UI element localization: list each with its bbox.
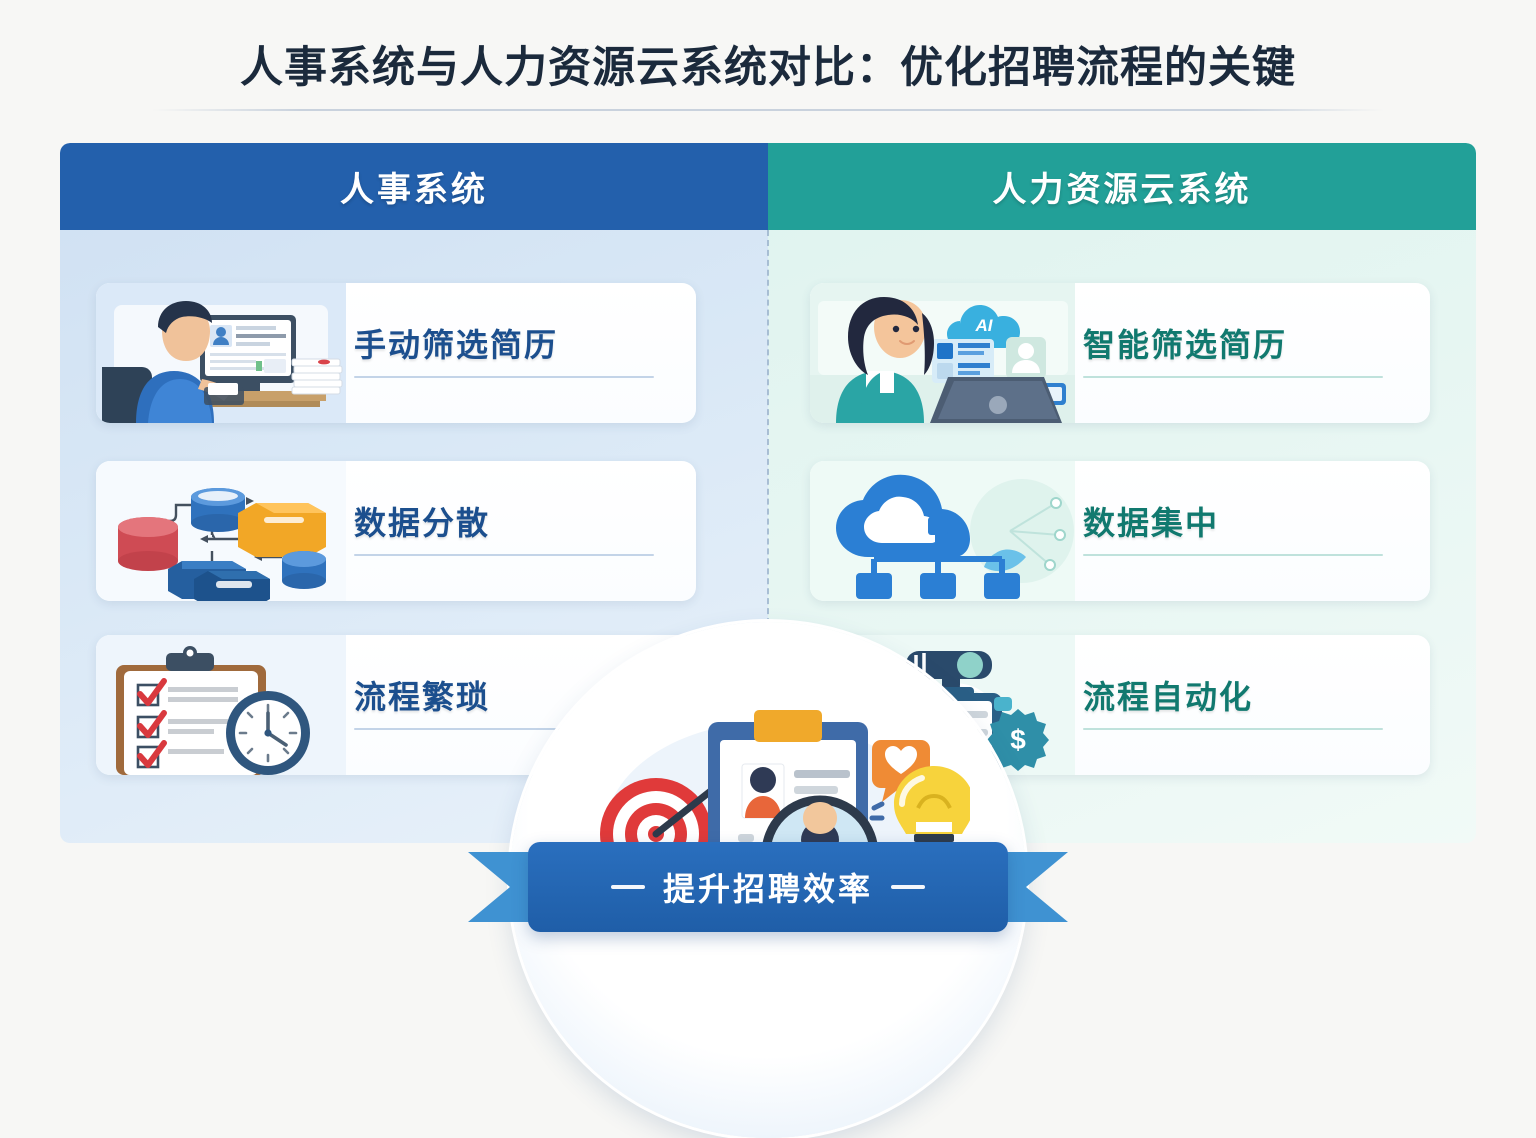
right-row-1-underline: [1083, 376, 1383, 378]
ribbon-dash-right: [891, 885, 925, 889]
right-row-1-label: 智能筛选简历: [1083, 328, 1412, 363]
right-row-1-labelbox: 智能筛选简历: [1075, 328, 1430, 378]
right-row-3-label: 流程自动化: [1083, 680, 1412, 715]
center-medallion: 提升招聘效率: [468, 622, 1068, 982]
ribbon-dash-left: [611, 885, 645, 889]
right-row-3-underline: [1083, 728, 1383, 730]
title-block: 人事系统与人力资源云系统对比：优化招聘流程的关键: [0, 44, 1536, 111]
ribbon-text-group: 提升招聘效率: [611, 864, 925, 910]
left-row-2-label: 数据分散: [354, 506, 678, 541]
woman-laptop-ai-cloud-icon: AI: [810, 283, 1075, 423]
ribbon-text: 提升招聘效率: [663, 864, 873, 910]
panel-right-header: 人力资源云系统: [768, 143, 1476, 230]
left-row-1-label: 手动筛选简历: [354, 328, 678, 363]
left-row-1-underline: [354, 376, 654, 378]
panel-right-header-text: 人力资源云系统: [993, 162, 1252, 211]
right-row-2-label: 数据集中: [1083, 506, 1412, 541]
left-row-1: 手动筛选简历: [96, 283, 696, 423]
left-row-2: 数据分散: [96, 461, 696, 601]
panel-left-header: 人事系统: [60, 143, 768, 230]
ribbon-main: 提升招聘效率: [528, 842, 1008, 932]
left-row-2-underline: [354, 554, 654, 556]
cloud-network-icon: [810, 461, 1075, 601]
panel-left-header-text: 人事系统: [340, 162, 488, 211]
person-at-desk-icon: [96, 283, 346, 423]
ribbon-banner: 提升招聘效率: [468, 842, 1068, 932]
scattered-database-icon: [96, 461, 346, 601]
right-row-1: AI: [810, 283, 1430, 423]
right-row-3-labelbox: 流程自动化: [1075, 680, 1430, 730]
clipboard-clock-icon: [96, 635, 346, 775]
infographic-canvas: 人事系统与人力资源云系统对比：优化招聘流程的关键 人事系统: [0, 0, 1536, 1024]
title-divider: [152, 109, 1384, 111]
ai-cloud-text: AI: [975, 316, 994, 335]
right-row-2-underline: [1083, 554, 1383, 556]
left-row-2-labelbox: 数据分散: [346, 506, 696, 556]
right-row-2: 数据集中: [810, 461, 1430, 601]
page-title: 人事系统与人力资源云系统对比：优化招聘流程的关键: [0, 44, 1536, 93]
left-row-1-labelbox: 手动筛选简历: [346, 328, 696, 378]
right-row-2-labelbox: 数据集中: [1075, 506, 1430, 556]
